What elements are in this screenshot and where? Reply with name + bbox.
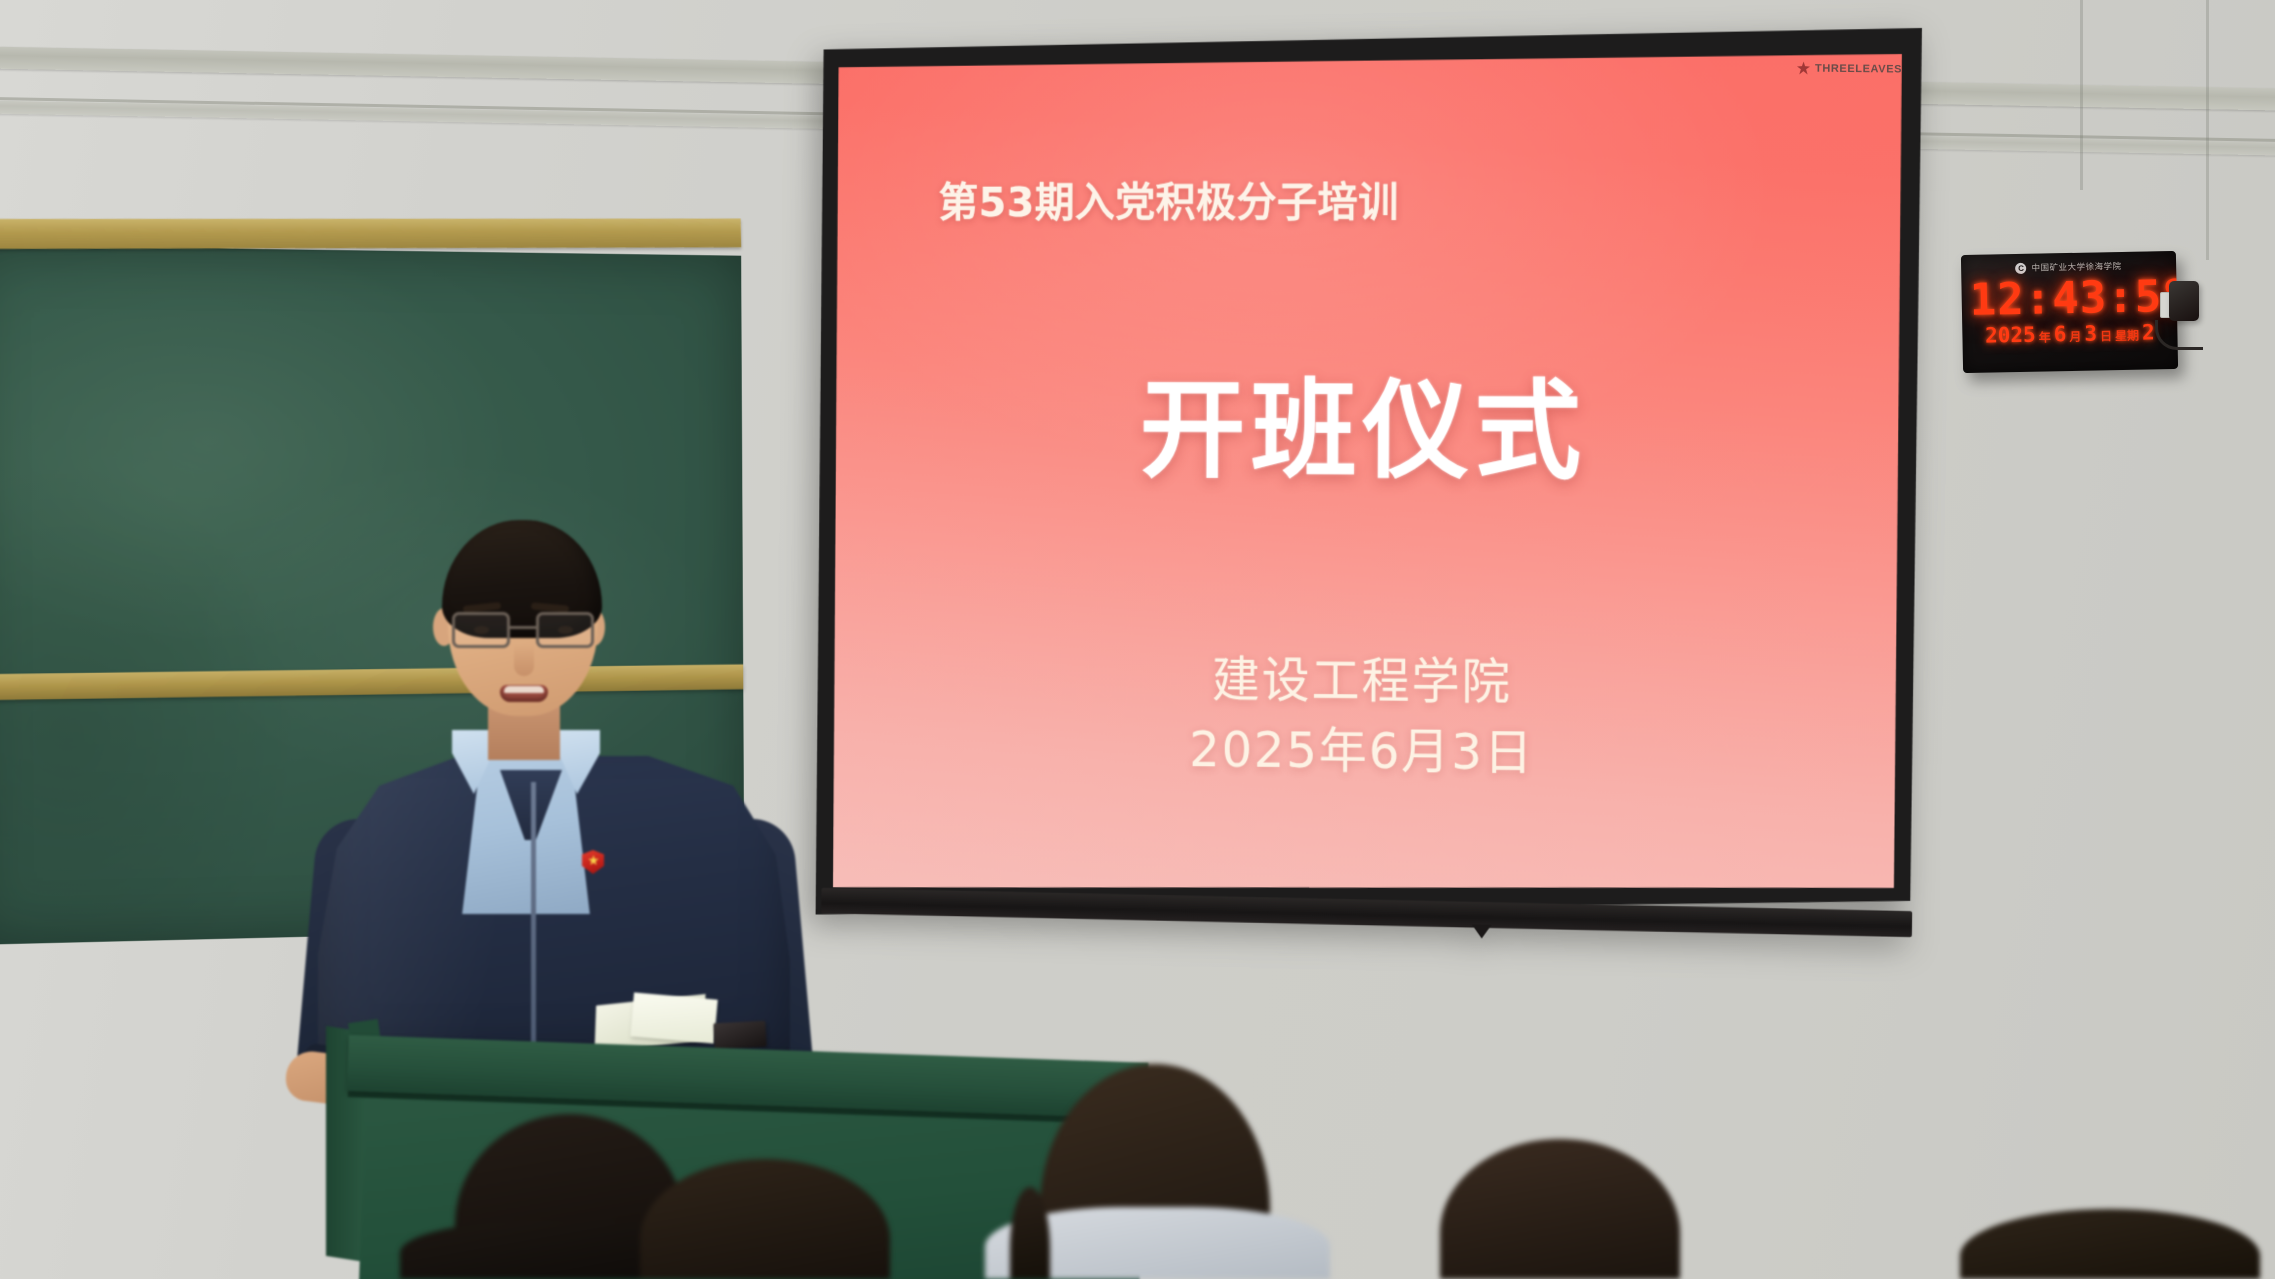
classroom-photo-scene: 第53期入党积极分子培训 开班仪式 建设工程学院 2025年6月3日 THREE… [0,0,2275,1279]
digital-wall-clock: C 中国矿业大学徐海学院 12:43:58 2025 年 6 月 3 日 星期 … [1961,251,2178,373]
clock-weekday-value: 2 [2142,320,2155,344]
speaker-nose [514,644,534,676]
blackboard-frame-top [0,219,741,249]
projector-brand-label: THREELEAVES [1797,61,1902,75]
glasses-lens-left [452,612,510,648]
clock-weekday-label: 星期 [2115,324,2139,348]
speaker-person [300,520,820,1080]
projection-screen: 第53期入党积极分子培训 开班仪式 建设工程学院 2025年6月3日 [816,28,1922,928]
clock-year: 2025 [1985,323,2036,348]
clock-date-display: 2025 年 6 月 3 日 星期 2 [1970,320,2169,351]
glasses-lens-right [536,612,594,648]
clock-year-unit: 年 [2039,325,2051,349]
wall-panel-line-right [2080,0,2083,190]
slide-kicker-text: 第53期入党积极分子培训 [938,169,1399,228]
glasses-bridge [510,626,536,629]
slide-main-title: 开班仪式 [835,344,1901,502]
projector-brand-text: THREELEAVES [1815,62,1902,75]
clock-day-unit: 日 [2100,324,2112,348]
clock-time-display: 12:43:58 [1969,273,2169,325]
wall-panel-line-far-right [2206,0,2209,260]
clock-logo-icon: C [2016,262,2027,273]
threeleaves-logo-icon [1797,61,1810,74]
slide-date: 2025年6月3日 [833,708,1898,788]
power-adapter [2169,281,2199,321]
clock-day: 3 [2084,321,2097,345]
clock-month: 6 [2053,322,2066,346]
speaker-teeth [504,686,544,693]
projection-screen-surface: 第53期入党积极分子培训 开班仪式 建设工程学院 2025年6月3日 [833,54,1902,900]
clock-month-unit: 月 [2069,325,2081,349]
slide-organization: 建设工程学院 [834,638,1900,717]
